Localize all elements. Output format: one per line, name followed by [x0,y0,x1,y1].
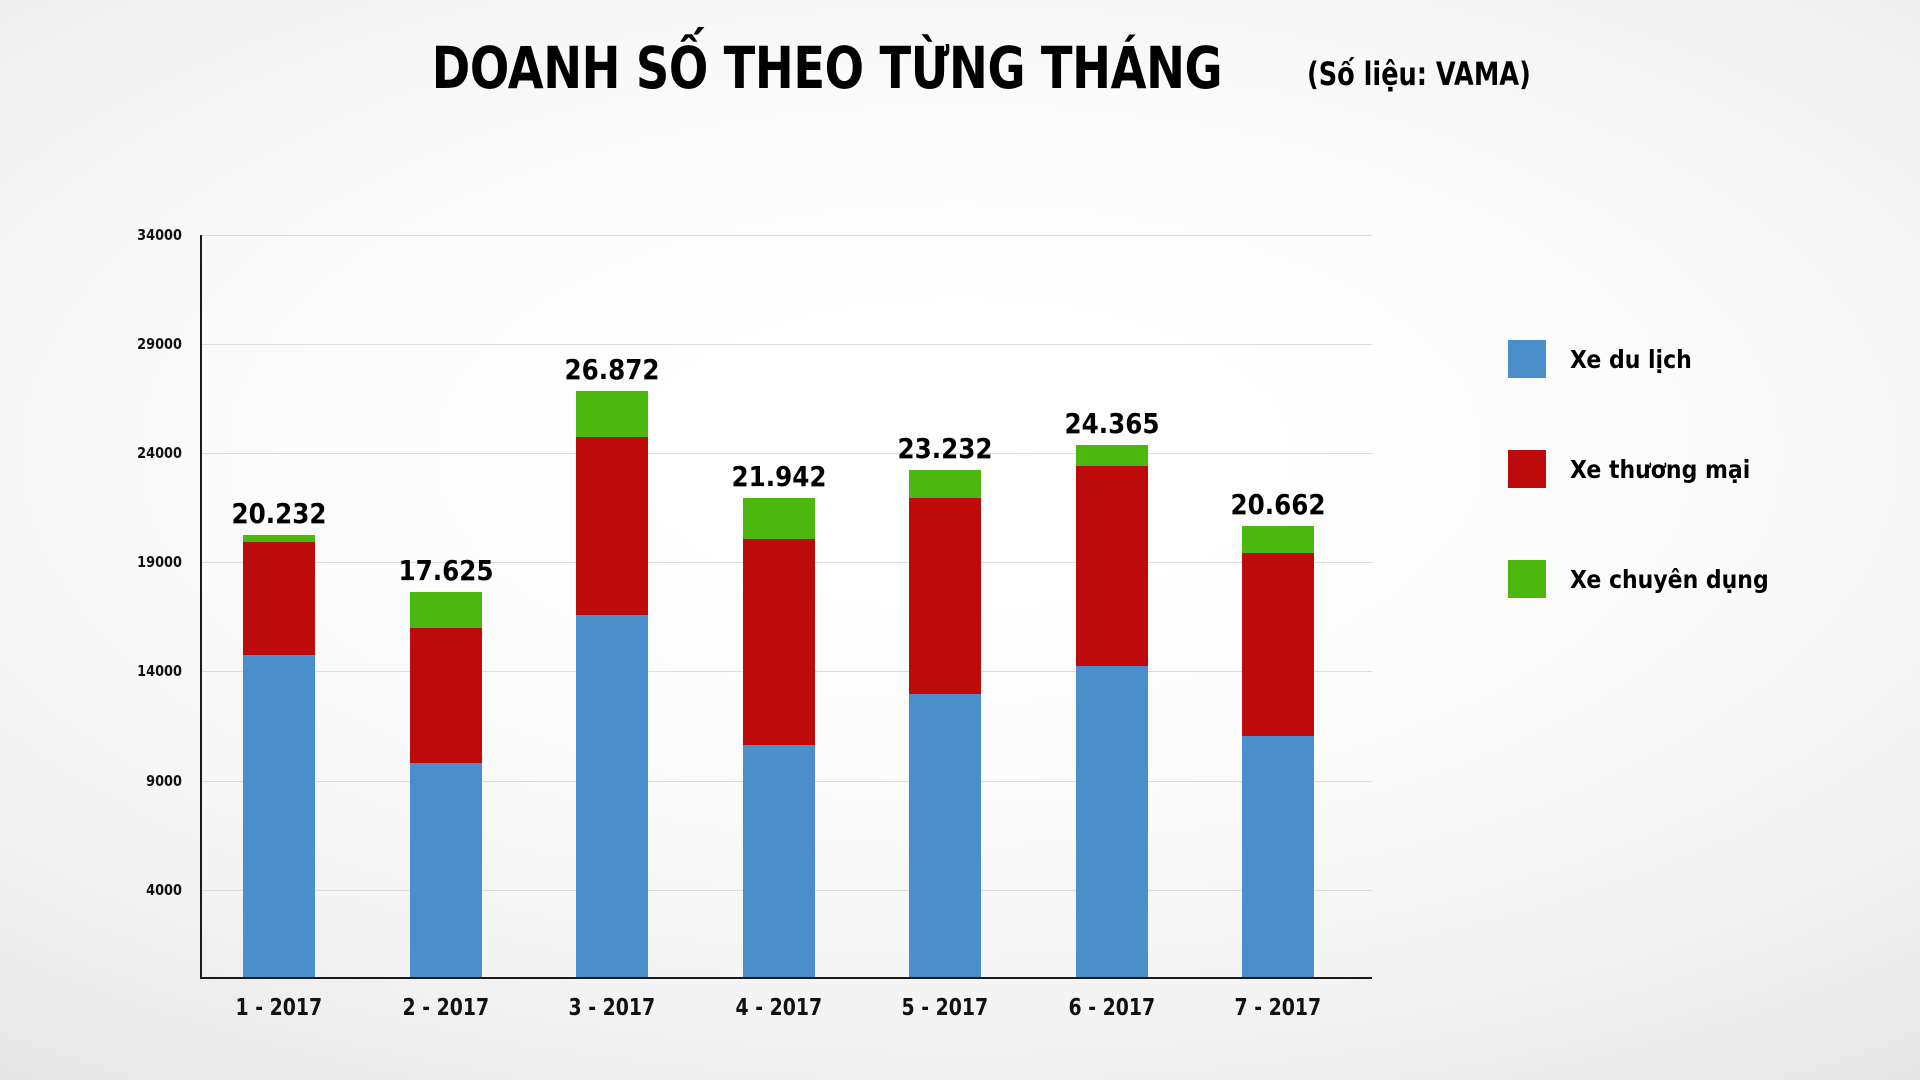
bar-segment[interactable] [909,694,981,977]
plot-area: 20.23217.62526.87221.94223.23224.36520.6… [200,235,1372,977]
legend-label: Xe chuyên dụng [1570,565,1796,594]
y-axis-tick-label: 9000 [79,772,182,790]
y-axis-tick-label: 14000 [79,662,182,680]
legend-label: Xe thương mại [1570,455,1775,484]
x-axis-tick-label: 7 - 2017 [1178,995,1378,1021]
bar-segment[interactable] [410,628,482,763]
x-axis-line [200,977,1372,979]
bar-segment[interactable] [576,391,648,437]
bar-group[interactable] [1076,235,1148,977]
bar-group[interactable] [576,235,648,977]
bar-total-label: 26.872 [558,353,666,386]
chart-canvas: 20.23217.62526.87221.94223.23224.36520.6… [0,0,1920,1080]
y-axis-line [200,235,202,977]
bar-segment[interactable] [909,498,981,694]
bar-segment[interactable] [410,763,482,977]
bar-segment[interactable] [243,655,315,977]
bar-group[interactable] [909,235,981,977]
bar-segment[interactable] [909,470,981,498]
bar-total-label: 24.365 [1057,407,1165,440]
legend-swatch [1508,560,1546,598]
y-axis-tick-label: 4000 [79,881,182,899]
bar-segment[interactable] [243,542,315,654]
y-axis-tick-label: 24000 [79,444,182,462]
bar-segment[interactable] [576,437,648,615]
bar-group[interactable] [743,235,815,977]
bar-group[interactable] [243,235,315,977]
bar-segment[interactable] [1242,736,1314,977]
bar-segment[interactable] [1076,466,1148,665]
legend-swatch [1508,340,1546,378]
bar-segment[interactable] [576,615,648,977]
bar-segment[interactable] [1242,553,1314,736]
bar-total-label: 17.625 [391,554,499,587]
legend-item[interactable]: Xe du lịch [1508,340,1708,378]
bar-segment[interactable] [1076,666,1148,977]
bar-segment[interactable] [743,498,815,539]
bar-group[interactable] [1242,235,1314,977]
bar-segment[interactable] [743,539,815,745]
bar-group[interactable] [410,235,482,977]
bar-segment[interactable] [410,592,482,627]
y-axis-tick-label: 34000 [79,226,182,244]
bar-segment[interactable] [1076,445,1148,466]
bar-total-label: 23.232 [891,432,999,465]
legend-item[interactable]: Xe chuyên dụng [1508,560,1796,598]
bar-segment[interactable] [743,745,815,977]
legend-item[interactable]: Xe thương mại [1508,450,1775,488]
y-axis-tick-label: 29000 [79,335,182,353]
bar-total-label: 21.942 [724,460,832,493]
y-axis-tick-label: 19000 [79,553,182,571]
bar-segment[interactable] [243,535,315,542]
bar-segment[interactable] [1242,526,1314,553]
legend-label: Xe du lịch [1570,345,1708,374]
bar-total-label: 20.662 [1224,488,1332,521]
legend-swatch [1508,450,1546,488]
bar-total-label: 20.232 [225,497,333,530]
